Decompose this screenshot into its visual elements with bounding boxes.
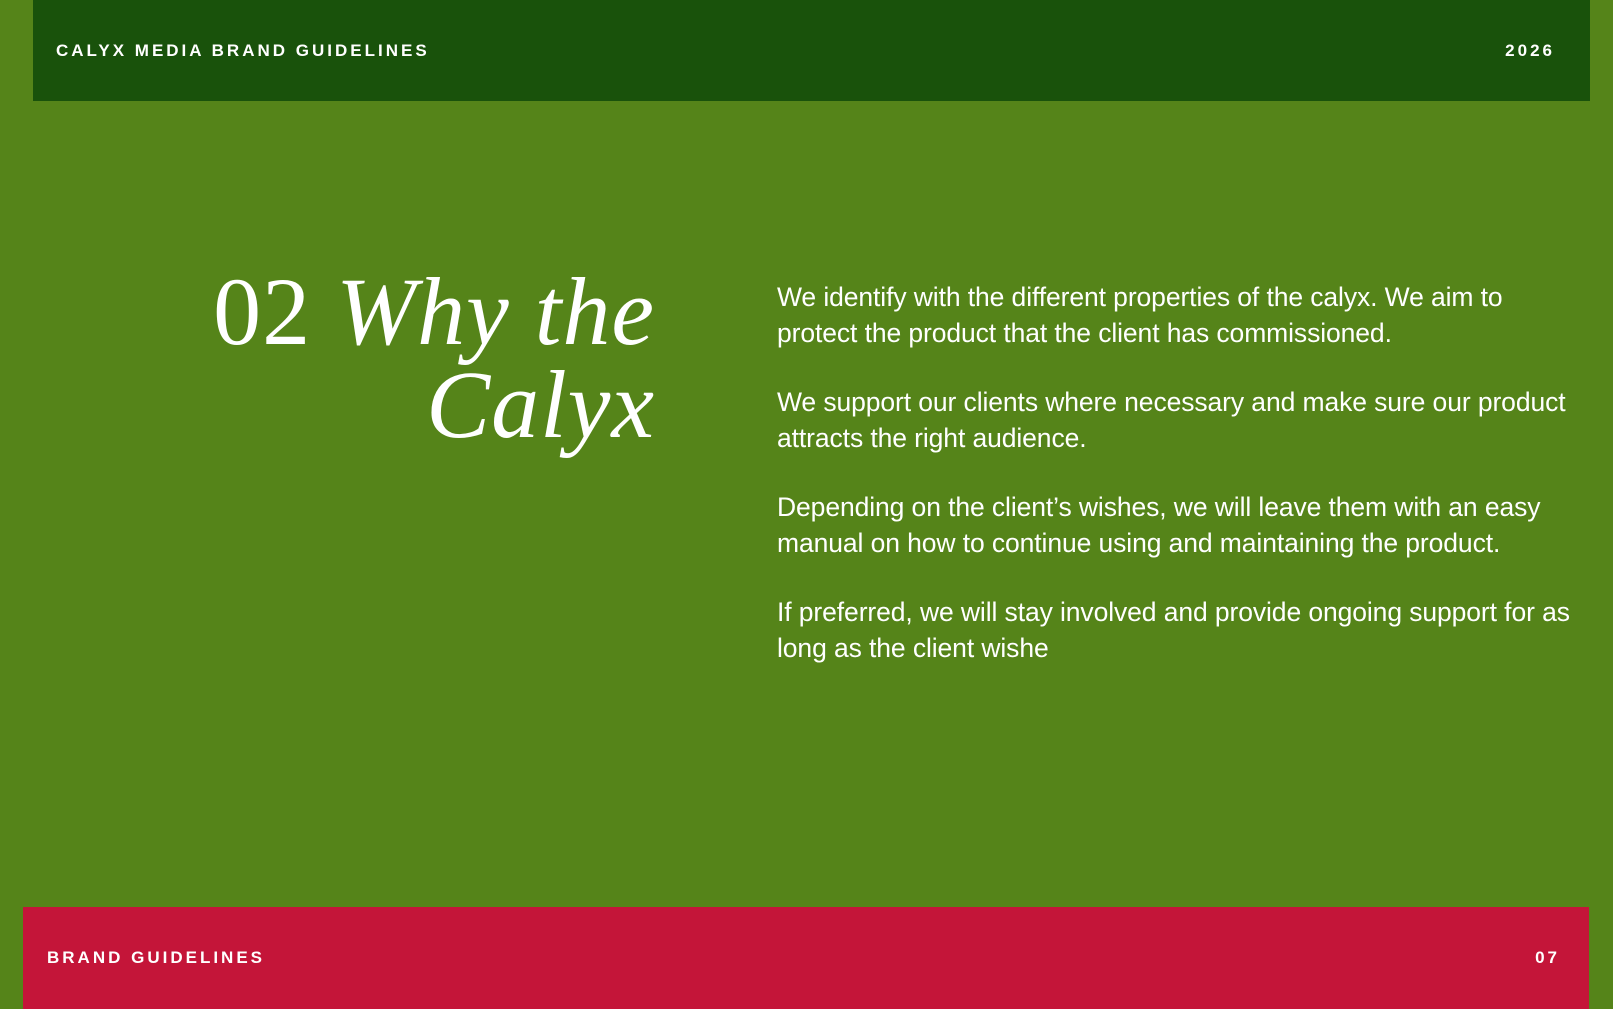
- title-line-one: 02 Why the: [110, 265, 655, 358]
- header-year: 2026: [1505, 41, 1555, 61]
- body-paragraph-3: Depending on the client’s wishes, we wil…: [777, 489, 1577, 561]
- section-number: 02: [213, 258, 336, 365]
- footer-label: BRAND GUIDELINES: [47, 948, 265, 968]
- page-title: 02 Why the Calyx: [110, 265, 655, 451]
- title-word-calyx: Calyx: [426, 351, 655, 458]
- title-word-why-the: Why the: [336, 258, 655, 365]
- slide-canvas: CALYX MEDIA BRAND GUIDELINES 2026 02 Why…: [0, 0, 1613, 1009]
- header-brand-title: CALYX MEDIA BRAND GUIDELINES: [56, 41, 430, 61]
- body-paragraph-2: We support our clients where necessary a…: [777, 384, 1577, 456]
- slide-content: 02 Why the Calyx We identify with the di…: [0, 101, 1613, 907]
- body-paragraph-1: We identify with the different propertie…: [777, 279, 1577, 351]
- footer-bar: BRAND GUIDELINES 07: [23, 907, 1589, 1009]
- footer-page-number: 07: [1535, 948, 1560, 968]
- title-line-two: Calyx: [110, 358, 655, 451]
- body-paragraph-4: If preferred, we will stay involved and …: [777, 594, 1577, 666]
- body-copy: We identify with the different propertie…: [777, 279, 1577, 666]
- header-bar: CALYX MEDIA BRAND GUIDELINES 2026: [33, 0, 1590, 101]
